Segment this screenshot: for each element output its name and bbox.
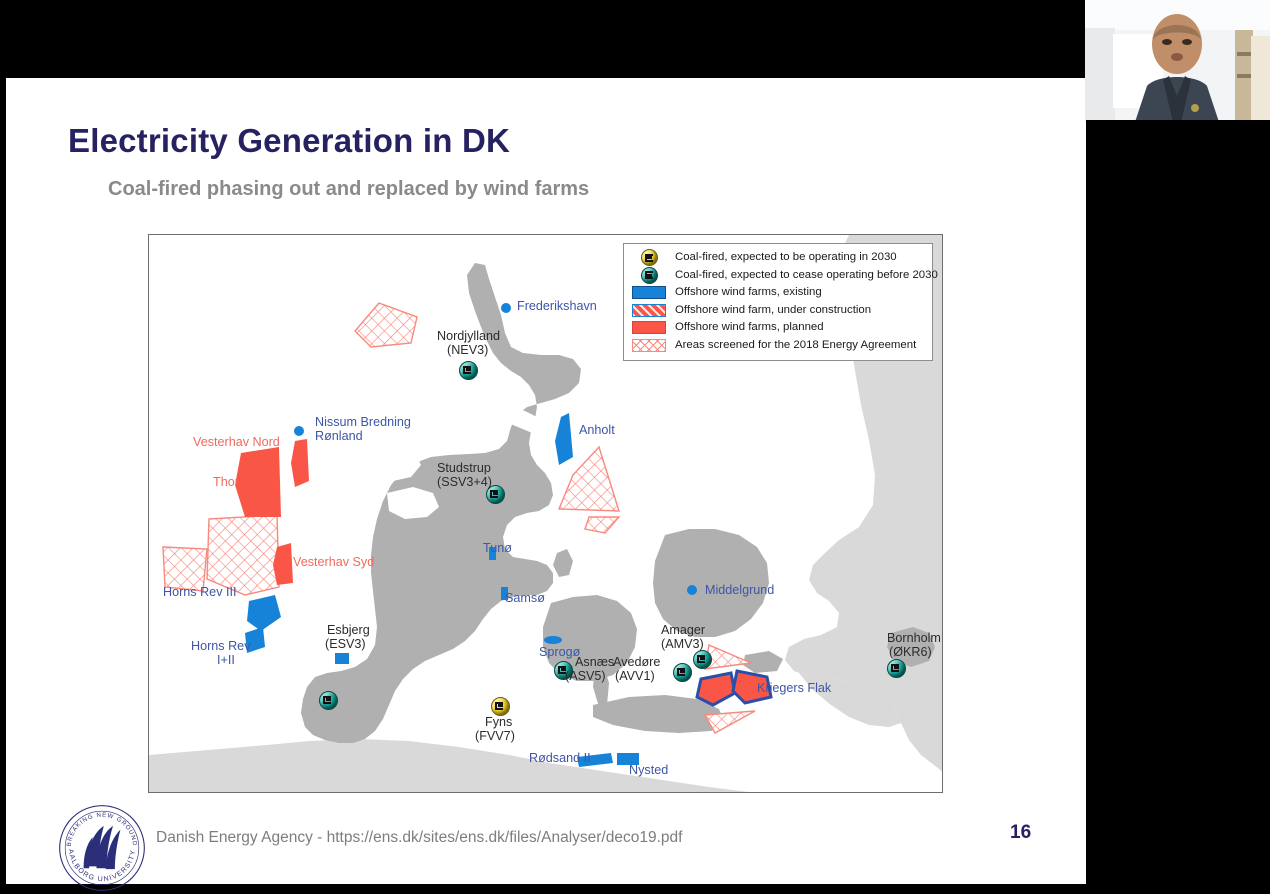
- plant-label-bornholm-line2: (ØKR6): [889, 645, 932, 659]
- plant-label-studstrup-line1: Studstrup: [437, 461, 491, 475]
- blue-swatch-icon: [632, 286, 666, 299]
- map-label-horns-rev-iii: Horns Rev III: [163, 585, 236, 599]
- planned-thor: [235, 447, 281, 517]
- plant-label-avedore-line1: Avedøre: [613, 655, 660, 669]
- letterbox-bottom: [0, 884, 1270, 892]
- legend-row-coal-operating: Coal-fired, expected to be operating in …: [632, 249, 926, 267]
- hatched-swatch-icon: [632, 304, 666, 317]
- existing-anholt: [555, 413, 573, 465]
- presentation-slide: Electricity Generation in DK Coal-fired …: [6, 78, 1270, 884]
- map-label-samso: Samsø: [505, 591, 545, 605]
- legend-row-existing: Offshore wind farms, existing: [632, 284, 926, 302]
- uc-kriegers-flak-west: [697, 673, 735, 705]
- map-label-kriegers-flak: Kriegers Flak: [757, 681, 831, 695]
- map-label-rodsand-ii: Rødsand II: [529, 751, 591, 765]
- germany-landmass: [149, 739, 789, 793]
- legend-row-planned: Offshore wind farms, planned: [632, 319, 926, 337]
- red-swatch-icon: [632, 321, 666, 334]
- slide-page-number: 16: [1010, 822, 1031, 844]
- letterbox-top: [0, 0, 1085, 78]
- legend-label: Offshore wind farms, planned: [675, 321, 824, 334]
- plant-marker-nordjylland[interactable]: [459, 361, 478, 380]
- screen-root: Electricity Generation in DK Coal-fired …: [0, 0, 1270, 892]
- existing-middelgrund: [687, 585, 697, 595]
- plant-label-esbjerg-line2: (ESV3): [325, 637, 366, 651]
- frederikshavn-dot: [501, 303, 511, 313]
- plant-marker-bornholm[interactable]: [887, 659, 906, 678]
- nissum-bredning-water: [335, 459, 365, 487]
- map-label-thor: Thor: [213, 475, 239, 489]
- existing-sprogo: [544, 636, 562, 644]
- screened-area-kriegers-s: [705, 711, 755, 733]
- aalborg-university-logo: BREAKING NEW GROUND AALBORG UNIVERSITY: [56, 802, 148, 894]
- limfjord-water: [407, 379, 529, 409]
- existing-horns-rev-dot: [335, 653, 349, 664]
- existing-ronland: [294, 426, 304, 436]
- plant-label-fyns-line1: Fyns: [485, 715, 512, 729]
- screened-swatch-icon: [632, 339, 666, 352]
- page-title: Electricity Generation in DK: [68, 122, 510, 160]
- plant-label-studstrup-line2: (SSV3+4): [437, 475, 492, 489]
- legend-label: Coal-fired, expected to cease operating …: [675, 269, 938, 282]
- webcam-video-feed[interactable]: [1085, 0, 1270, 122]
- legend-label: Coal-fired, expected to be operating in …: [675, 251, 897, 264]
- plant-label-esbjerg-line1: Esbjerg: [327, 623, 370, 637]
- plant-marker-esbjerg[interactable]: [319, 691, 338, 710]
- plant-label-bornholm-line1: Bornholm: [887, 631, 941, 645]
- coal-dot-yellow-icon: [639, 250, 659, 266]
- map-label-nysted: Nysted: [629, 763, 668, 777]
- legend-label: Areas screened for the 2018 Energy Agree…: [675, 339, 916, 352]
- planned-vesterhav-nord: [291, 439, 309, 487]
- legend-row-under-construction: Offshore wind farm, under construction: [632, 302, 926, 320]
- legend-row-coal-cease: Coal-fired, expected to cease operating …: [632, 267, 926, 285]
- screened-area-kattegat-small: [585, 517, 619, 533]
- plant-label-avedore-line2: (AVV1): [615, 669, 655, 683]
- legend-row-screened: Areas screened for the 2018 Energy Agree…: [632, 337, 926, 355]
- plant-label-nordjylland-line1: Nordjylland: [437, 329, 500, 343]
- screened-area-north: [355, 303, 417, 347]
- map-label-frederikshavn: Frederikshavn: [517, 299, 597, 313]
- map-label-middelgrund: Middelgrund: [705, 583, 774, 597]
- plant-label-amager-line2: (AMV3): [661, 637, 704, 651]
- map-label-anholt: Anholt: [579, 423, 615, 437]
- denmark-energy-map: Coal-fired, expected to be operating in …: [148, 234, 943, 793]
- map-label-tuno: Tunø: [483, 541, 512, 555]
- map-label-vesterhav-nord: Vesterhav Nord: [193, 435, 280, 449]
- webcam-black-panel: [1086, 120, 1270, 892]
- map-label-nissum-bredning: Nissum Bredning: [315, 415, 411, 429]
- map-legend: Coal-fired, expected to be operating in …: [623, 243, 933, 361]
- map-label-ronland: Rønland: [315, 429, 363, 443]
- coal-dot-teal-icon: [639, 267, 659, 283]
- map-label-vesterhav-syd: Vesterhav Syd: [293, 555, 374, 569]
- plant-label-asnaes-line2: (ASV5): [565, 669, 606, 683]
- page-subtitle: Coal-fired phasing out and replaced by w…: [108, 178, 589, 201]
- map-label-horns-rev-line2: I+II: [217, 653, 235, 667]
- screened-area-thor: [207, 515, 279, 595]
- existing-horns-rev-iii: [247, 595, 281, 631]
- plant-label-asnaes-line1: Asnæs: [575, 655, 614, 669]
- legend-label: Offshore wind farm, under construction: [675, 304, 871, 317]
- plant-marker-fyns[interactable]: [491, 697, 510, 716]
- source-citation: Danish Energy Agency - https://ens.dk/si…: [156, 829, 682, 847]
- plant-marker-avedore[interactable]: [673, 663, 692, 682]
- samso-island: [553, 549, 573, 577]
- legend-label: Offshore wind farms, existing: [675, 286, 822, 299]
- map-label-horns-rev-line1: Horns Rev: [191, 639, 251, 653]
- plant-label-amager-line1: Amager: [661, 623, 705, 637]
- plant-marker-amager[interactable]: [693, 650, 712, 669]
- plant-label-nordjylland-line2: (NEV3): [447, 343, 488, 357]
- plant-label-fyns-line2: (FVV7): [475, 729, 515, 743]
